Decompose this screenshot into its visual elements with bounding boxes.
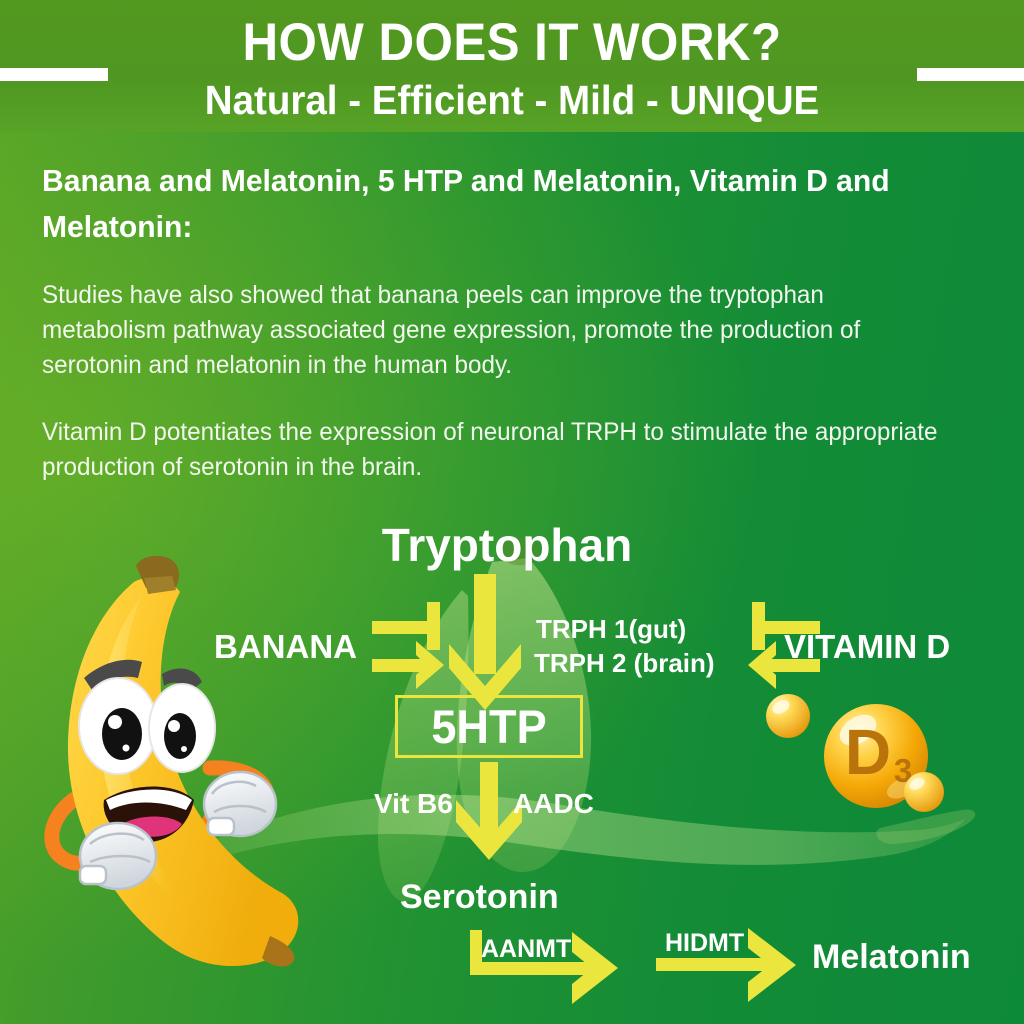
label-vit-b6: Vit B6 — [374, 788, 453, 820]
right-arrow-icon — [372, 641, 444, 689]
label-trph-1-gut: TRPH 1(gut) — [536, 614, 686, 645]
paragraph-one: Studies have also showed that banana pee… — [42, 278, 944, 383]
label-melatonin: Melatonin — [812, 938, 971, 977]
infographic-poster: HOW DOES IT WORK? Natural - Efficient - … — [0, 0, 1024, 1024]
label-hidmt: HIDMT — [665, 929, 744, 958]
t-bar-inhibition-arrow-icon — [372, 602, 440, 650]
header-band: HOW DOES IT WORK? Natural - Efficient - … — [0, 0, 1024, 132]
label-tryptophan: Tryptophan — [0, 518, 1024, 572]
banana-mascot-icon — [14, 556, 314, 976]
five-htp-box: 5HTP — [395, 695, 583, 758]
label-trph-2-brain: TRPH 2 (brain) — [534, 648, 715, 679]
paragraph-two: Vitamin D potentiates the expression of … — [42, 415, 944, 485]
label-aanmt: AANMT — [481, 935, 571, 964]
label-aadc: AADC — [513, 788, 594, 820]
label-serotonin: Serotonin — [400, 878, 559, 917]
label-vitamin-d: VITAMIN D — [784, 628, 950, 666]
vitamin-d3-capsule-icon: D 3 — [752, 684, 1002, 844]
page-subtitle: Natural - Efficient - Mild - UNIQUE — [31, 76, 994, 124]
page-title: HOW DOES IT WORK? — [36, 14, 988, 72]
label-5htp: 5HTP — [402, 698, 577, 756]
down-arrow-icon — [449, 574, 521, 710]
section-heading: Banana and Melatonin, 5 HTP and Melatoni… — [42, 158, 915, 250]
svg-text:D: D — [845, 716, 891, 788]
label-banana: BANANA — [214, 628, 357, 666]
